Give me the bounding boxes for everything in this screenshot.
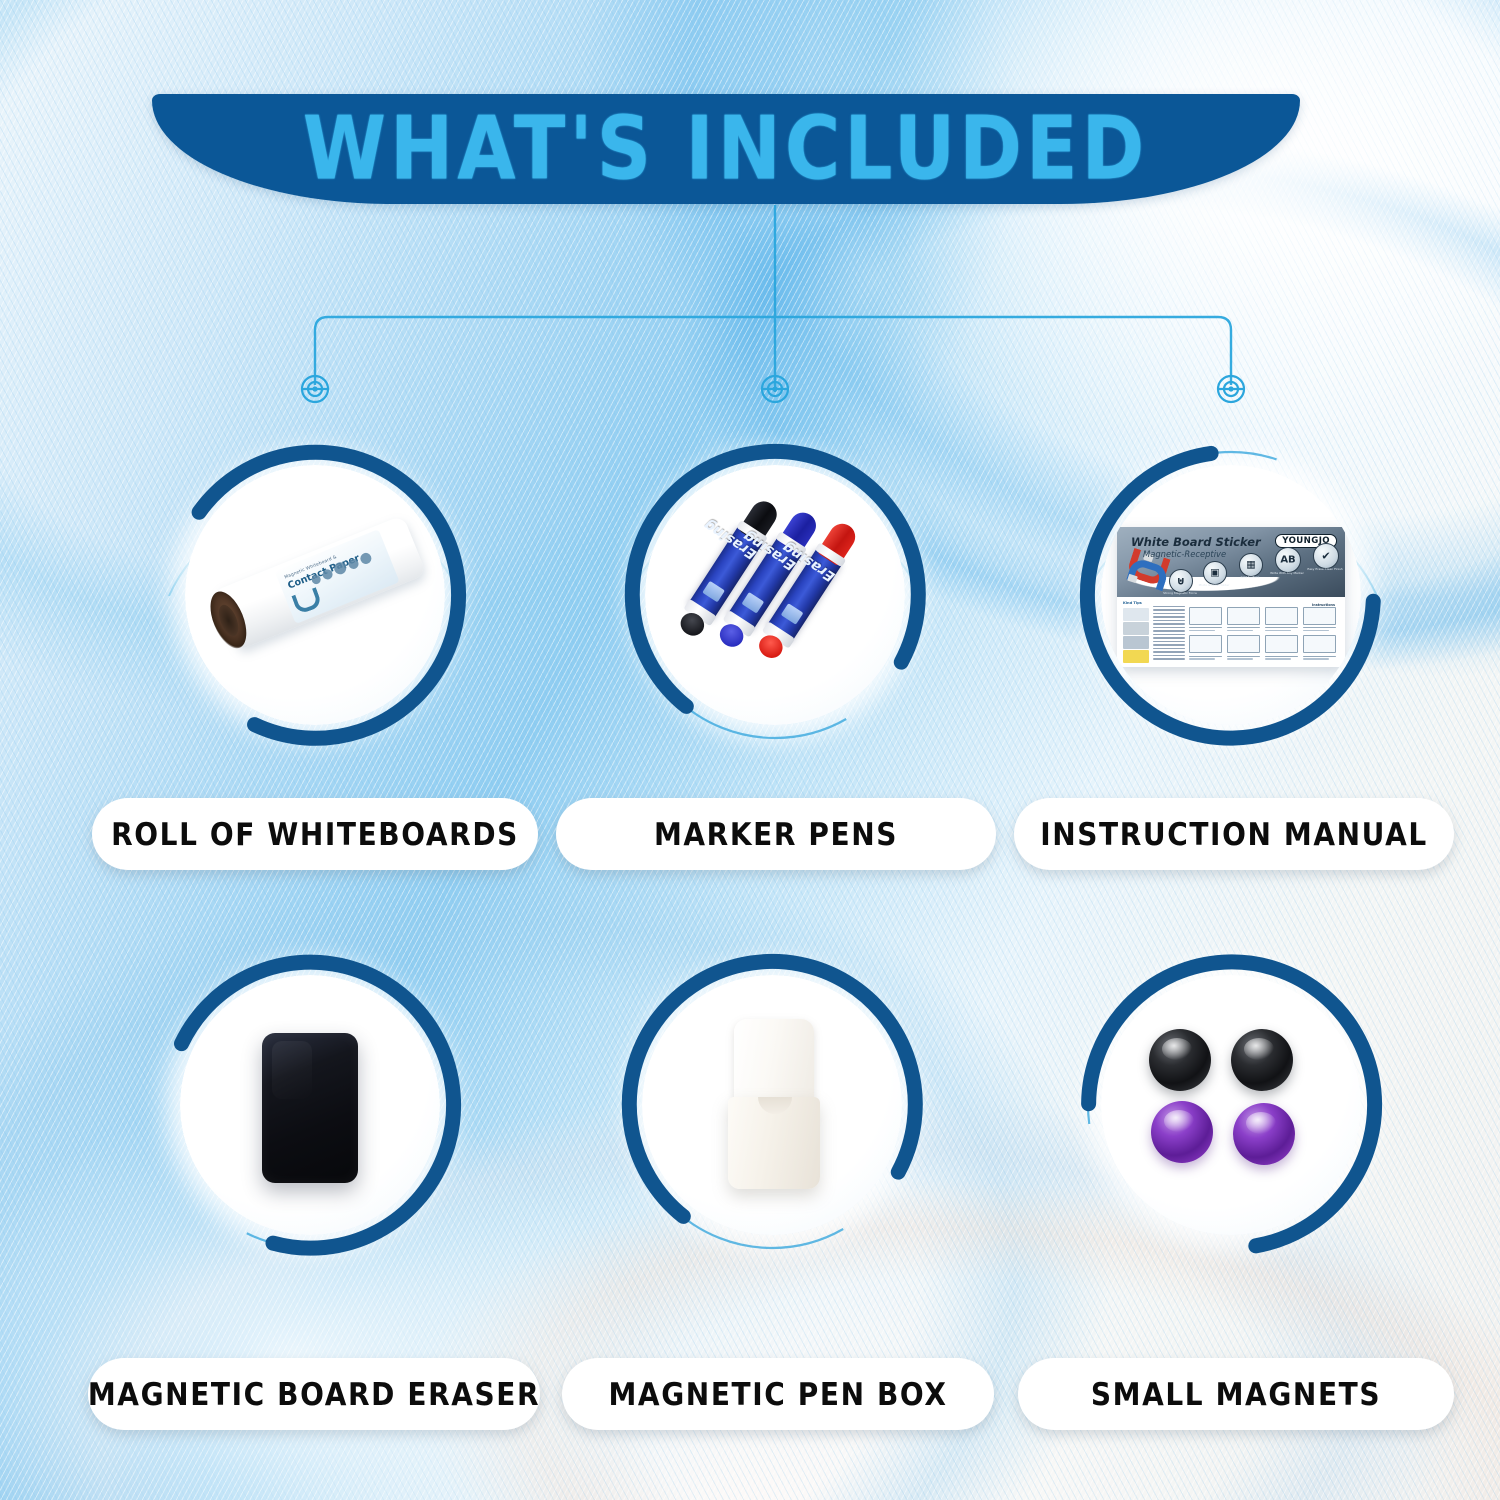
ab-icon: AB — [1275, 547, 1301, 573]
purple-magnet — [1151, 1101, 1213, 1163]
product-image-instruction-sheet: White Board Sticker Magnetic-Receptive Y… — [1101, 465, 1361, 725]
roll-body: Magnetic Whiteboard & Contact Paper — [215, 515, 426, 650]
instruction-steps: Instructions — [1189, 600, 1341, 664]
label-marker-pens: MARKER PENS — [556, 798, 996, 870]
feature-dot-icon — [359, 551, 373, 565]
roll-label: Magnetic Whiteboard & Contact Paper — [274, 529, 399, 624]
label-text: SMALL MAGNETS — [1091, 1376, 1381, 1413]
feature-caption: Photo & Note Holder — [1196, 584, 1232, 588]
label-text: MAGNETIC BOARD ERASER — [88, 1376, 540, 1413]
photo-icon: ▣ — [1203, 561, 1227, 585]
sheet-body: Kind Tips Instructions — [1117, 597, 1345, 667]
infographic-canvas: WHAT'S INCLUDED — [0, 0, 1500, 1500]
tips-text-lines — [1153, 606, 1185, 662]
item-circle-instruction-manual: White Board Sticker Magnetic-Receptive Y… — [1071, 435, 1391, 755]
marker-pen-group: Erasing Erasing — [669, 482, 901, 720]
feature-caption: Easy Erase Clean Finish — [1306, 568, 1344, 572]
kind-tips-heading: Kind Tips — [1123, 601, 1142, 605]
item-circle-small-magnets — [1071, 945, 1391, 1265]
label-small-magnets: SMALL MAGNETS — [1018, 1358, 1454, 1430]
feature-dot-icon — [310, 574, 322, 586]
instructions-heading: Instructions — [1312, 603, 1335, 607]
step-thumb — [1265, 635, 1298, 659]
feature-caption: Strong Magnetic Force — [1162, 592, 1198, 596]
feature-caption: Write With Any Marker — [1268, 572, 1306, 576]
feature-dot-icon — [321, 568, 334, 581]
black-magnet — [1149, 1029, 1211, 1091]
item-circle-magnetic-pen-box — [612, 945, 932, 1265]
purple-magnet — [1233, 1103, 1295, 1165]
feature-caption: Grid Surface — [1232, 576, 1268, 580]
label-magnetic-pen-box: MAGNETIC PEN BOX — [562, 1358, 994, 1430]
contact-paper-roll: Magnetic Whiteboard & Contact Paper — [203, 515, 428, 657]
instruction-sheet: White Board Sticker Magnetic-Receptive Y… — [1117, 527, 1345, 667]
color-swatch — [1123, 622, 1149, 635]
color-swatch — [1123, 650, 1149, 663]
step-thumb — [1265, 607, 1298, 631]
label-roll-of-whiteboards: ROLL OF WHITEBOARDS — [92, 798, 538, 870]
product-image-eraser — [180, 975, 440, 1235]
feature-dot-icon — [332, 560, 348, 576]
item-circle-marker-pens: Erasing Erasing — [615, 435, 935, 755]
magnet-group — [1149, 1029, 1313, 1179]
step-thumb — [1227, 607, 1260, 631]
step-thumb — [1303, 607, 1336, 631]
grid-icon: ▦ — [1239, 553, 1263, 577]
feature-dot-icon — [347, 557, 360, 570]
label-text: MAGNETIC PEN BOX — [608, 1376, 947, 1413]
product-image-pen-box — [642, 975, 902, 1235]
feature-icon-row: ⊍ Strong Magnetic Force ▣ Photo & Note H… — [1169, 551, 1337, 595]
color-swatch — [1123, 608, 1149, 621]
step-thumb — [1189, 635, 1222, 659]
product-image-marker-pens: Erasing Erasing — [645, 465, 905, 725]
check-icon: ✔ — [1313, 543, 1339, 569]
magnet-icon — [291, 587, 322, 615]
item-circle-magnetic-board-eraser — [150, 945, 470, 1265]
color-swatch — [1123, 636, 1149, 649]
sheet-title: White Board Sticker — [1131, 535, 1261, 549]
black-magnet — [1231, 1029, 1293, 1091]
label-text: INSTRUCTION MANUAL — [1040, 816, 1428, 853]
magnet-icon: ⊍ — [1169, 569, 1193, 593]
product-image-magnets — [1101, 975, 1361, 1235]
product-image-contact-paper-roll: Magnetic Whiteboard & Contact Paper — [185, 465, 445, 725]
label-magnetic-board-eraser: MAGNETIC BOARD ERASER — [88, 1358, 540, 1430]
magnetic-pen-box — [728, 1019, 820, 1189]
magnetic-eraser — [262, 1033, 358, 1183]
label-text: ROLL OF WHITEBOARDS — [111, 816, 519, 853]
label-instruction-manual: INSTRUCTION MANUAL — [1014, 798, 1454, 870]
label-text: MARKER PENS — [654, 816, 898, 853]
step-thumb — [1227, 635, 1260, 659]
step-thumb — [1189, 607, 1222, 631]
kind-tips-block: Kind Tips — [1123, 601, 1181, 663]
step-thumb — [1303, 635, 1336, 659]
item-circle-roll-of-whiteboards: Magnetic Whiteboard & Contact Paper — [155, 435, 475, 755]
